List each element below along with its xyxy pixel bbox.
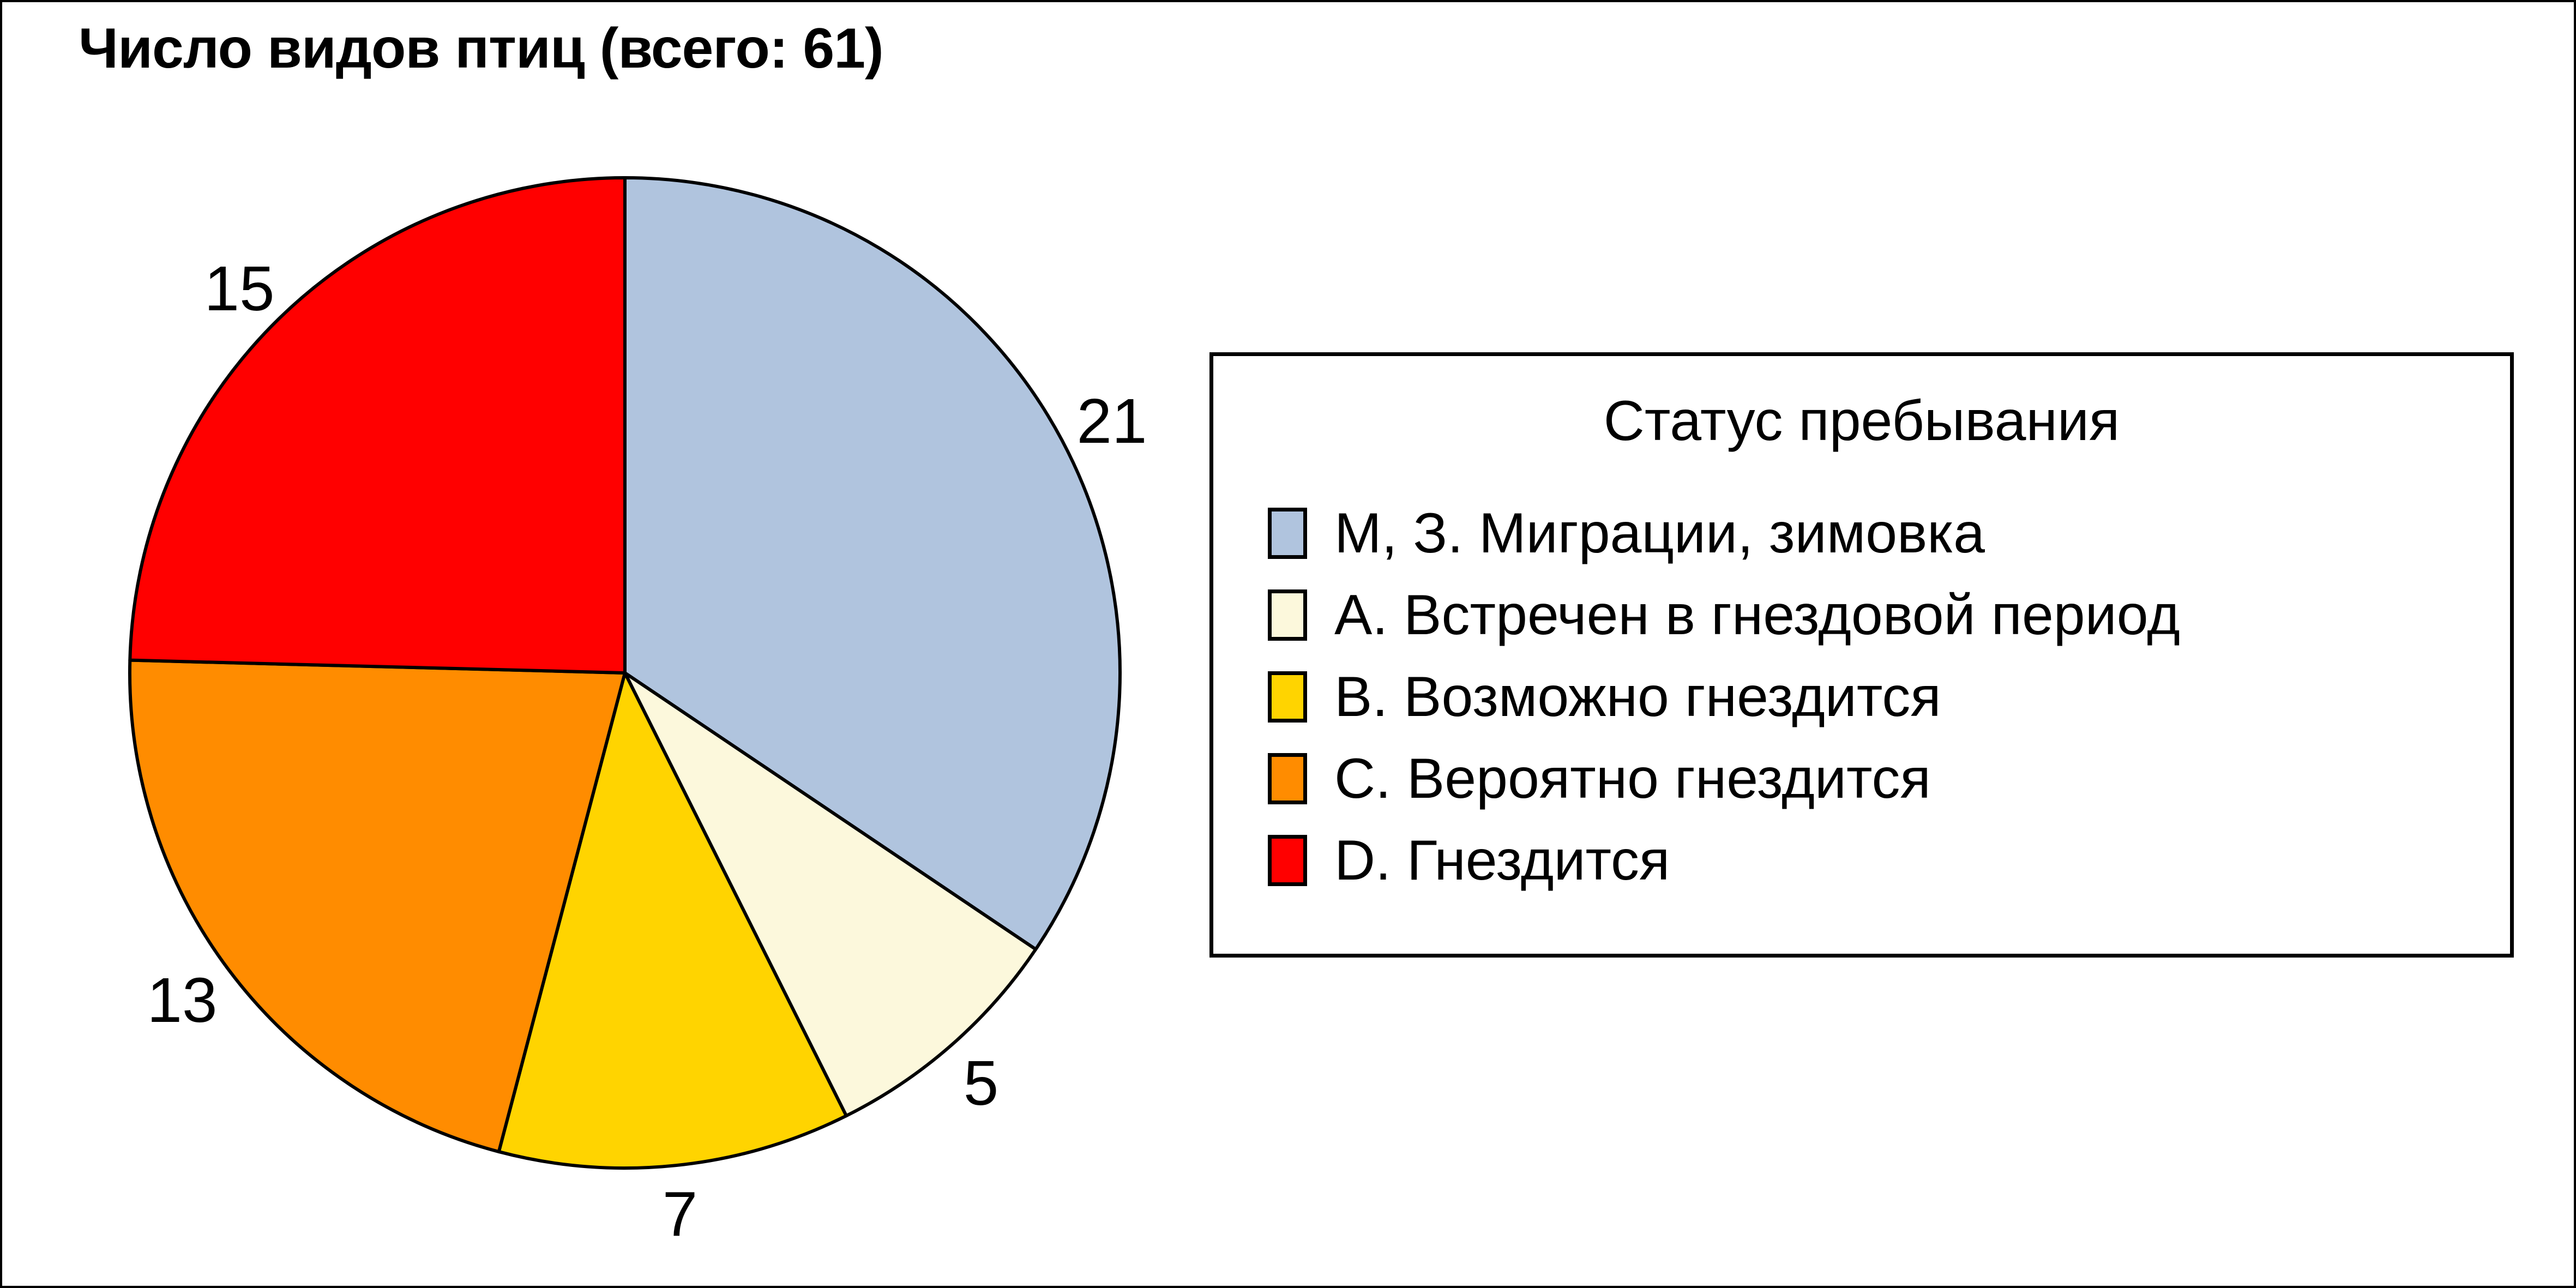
- legend-item[interactable]: D. Гнездится: [1268, 820, 2499, 901]
- legend-item-label: A. Встречен в гнездовой период: [1334, 587, 2180, 643]
- pie-chart: 21571315: [2, 2, 1256, 1288]
- legend-title: Статус пребывания: [1213, 389, 2510, 454]
- legend-color-swatch: [1268, 508, 1307, 559]
- legend-color-swatch: [1268, 835, 1307, 886]
- legend-item-list: M, З. Миграции, зимовкаA. Встречен в гне…: [1268, 492, 2499, 901]
- legend: Статус пребывания M, З. Миграции, зимовк…: [1209, 352, 2514, 958]
- legend-item[interactable]: B. Возможно гнездится: [1268, 656, 2499, 738]
- legend-item-label: M, З. Миграции, зимовка: [1334, 505, 1985, 562]
- pie-chart-svg: [2, 2, 1256, 1288]
- legend-item[interactable]: M, З. Миграции, зимовка: [1268, 492, 2499, 574]
- pie-slice-value-label: 15: [204, 252, 274, 325]
- legend-color-swatch: [1268, 753, 1307, 804]
- chart-page: Число видов птиц (всего: 61) 21571315 Ст…: [0, 0, 2576, 1288]
- pie-slice-value-label: 13: [147, 964, 217, 1037]
- legend-item-label: C. Вероятно гнездится: [1334, 750, 1931, 807]
- legend-item-label: D. Гнездится: [1334, 832, 1670, 889]
- legend-color-swatch: [1268, 589, 1307, 641]
- legend-color-swatch: [1268, 671, 1307, 723]
- pie-slice-group: [130, 178, 1120, 1168]
- legend-item[interactable]: A. Встречен в гнездовой период: [1268, 574, 2499, 656]
- legend-item-label: B. Возможно гнездится: [1334, 669, 1941, 725]
- pie-slice-value-label: 7: [663, 1177, 698, 1250]
- pie-slice-value-label: 5: [964, 1046, 999, 1120]
- legend-item[interactable]: C. Вероятно гнездится: [1268, 738, 2499, 820]
- pie-slice-value-label: 21: [1076, 384, 1147, 458]
